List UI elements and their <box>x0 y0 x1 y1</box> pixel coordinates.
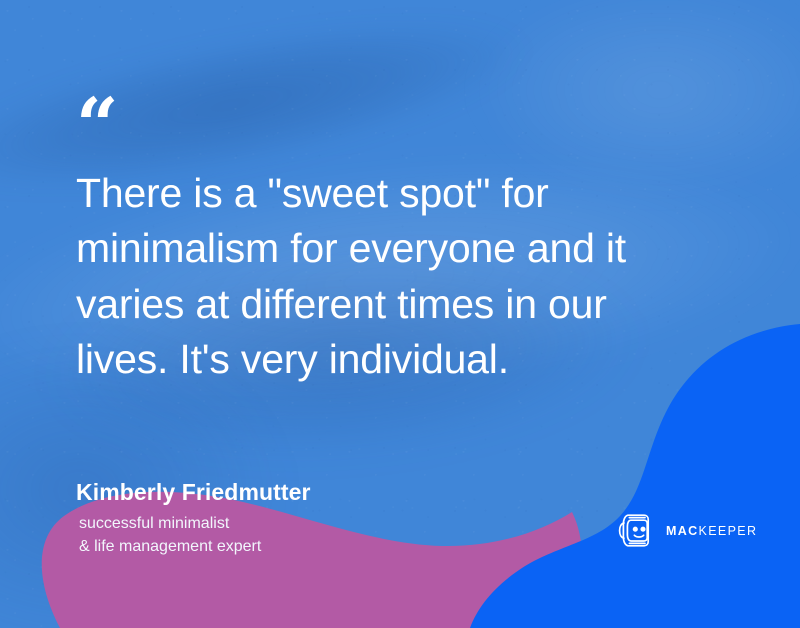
brand-wordmark-strong: MAC <box>666 524 699 538</box>
quote-card: “ There is a "sweet spot" for minimalism… <box>0 0 800 628</box>
author-name: Kimberly Friedmutter <box>76 478 496 507</box>
astronaut-helmet-icon <box>617 511 655 551</box>
brand-logo: MACKEEPER <box>617 511 757 551</box>
brand-wordmark: MACKEEPER <box>666 525 757 538</box>
brand-wordmark-light: KEEPER <box>699 524 758 538</box>
attribution-block: Kimberly Friedmutter successful minimali… <box>76 478 496 558</box>
quote-text: There is a "sweet spot" for minimalism f… <box>76 166 716 387</box>
quote-block: “ There is a "sweet spot" for minimalism… <box>76 104 716 387</box>
quote-mark-icon: “ <box>76 104 716 150</box>
author-role: successful minimalist & life management … <box>76 512 496 558</box>
